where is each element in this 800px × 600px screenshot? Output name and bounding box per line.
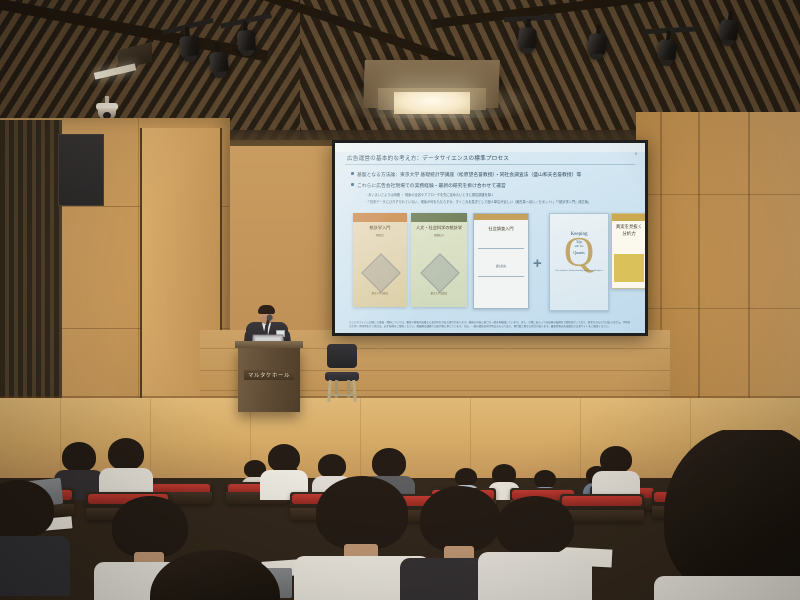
slide-bullet-2: これらに広告会社現場での実務経験・最新の研究を掛け合わせて運営: [351, 182, 637, 189]
venue-sign-label: マルタケホール: [248, 371, 290, 379]
speaker-hair: [258, 305, 275, 314]
book-subtitle: Your Guide to Understanding and Using An…: [550, 270, 608, 272]
book-publisher: 東京大学出版会: [353, 291, 407, 295]
audience-member-closest: [664, 430, 800, 600]
book-title-line1: 真実を見抜く: [614, 224, 644, 230]
book-band: [353, 213, 407, 222]
book-title-line3: with the: [550, 245, 608, 248]
auditorium-photo: 9 広告運営の基本的な考え方：データサイエンスの標準プロセス 基盤となる方法論：…: [0, 0, 800, 600]
projection-screen-frame: 9 広告運営の基本的な考え方：データサイエンスの標準プロセス 基盤となる方法論：…: [332, 140, 648, 336]
slide-title-rule: [345, 164, 635, 165]
audience-member-foreground: [0, 480, 54, 580]
audience-member: [108, 438, 144, 480]
book-band: [411, 213, 467, 222]
book-color-block: [614, 254, 644, 282]
stage-chair[interactable]: [325, 344, 359, 402]
slide-footnote: ※このスライドに記載した書籍・資料については、著者の所属や肩書きに表記ゆれがある…: [349, 321, 631, 329]
book-cover: 人文・社会科学の統計学 基礎統計2 東京大学出版会: [411, 213, 467, 307]
bullet-marker-icon: [351, 172, 354, 175]
slide-subnote-2: ・「旧来データにひきずられていない、現象が何をもたらすか、すぐこれを急ぎとして個…: [365, 199, 637, 204]
slide-page-number: 9: [635, 151, 637, 156]
book-author: 盛山和夫: [474, 264, 528, 268]
audience-member-foreground: [496, 496, 574, 600]
book-publisher: 東京大学出版会: [411, 291, 467, 295]
audience-seating: [0, 430, 800, 600]
audience-member: [268, 444, 300, 482]
book-title-line1: Keeping: [550, 232, 608, 237]
slide-bullet-1-text: 基盤となる方法論：東京大学 基礎統計学講座（松原望名誉教授）・同社会調査法（盛山…: [357, 173, 581, 178]
book-title-line2: Up: [550, 239, 608, 244]
podium: マルタケホール: [238, 346, 300, 412]
wall-mounted-dark-panel: [58, 134, 104, 206]
book-series: 基礎統計2: [411, 233, 467, 237]
slide-bullet-1: 基盤となる方法論：東京大学 基礎統計学講座（松原望名誉教授）・同社会調査法（盛山…: [351, 171, 637, 178]
book-title: 人文・社会科学の統計学: [411, 225, 467, 231]
audience-member: [62, 442, 96, 482]
audience-member-closest: [150, 550, 280, 600]
slide-title: 広告運営の基本的な考え方：データサイエンスの標準プロセス: [347, 154, 615, 162]
book-series: 基礎統計: [353, 233, 407, 237]
book-title: 統計学入門: [353, 225, 407, 231]
slide-bullet-2-text: これらに広告会社現場での実務経験・最新の研究を掛け合わせて運営: [357, 184, 506, 189]
book-ornament-icon: [361, 253, 401, 293]
slide-book-row: 統計学入門 基礎統計 東京大学出版会 人文・社会科学の統計学 基礎統計2 東京大…: [349, 213, 635, 311]
audience-member: [600, 446, 632, 484]
book-cover: Q Keeping Up with the Quants Your Guide …: [549, 213, 609, 311]
bullet-marker-icon: [351, 183, 354, 186]
book-cover: 統計学入門 基礎統計 東京大学出版会: [353, 213, 407, 307]
book-title-line2: 分析力: [614, 231, 644, 237]
projection-screen: 9 広告運営の基本的な考え方：データサイエンスの標準プロセス 基盤となる方法論：…: [335, 143, 645, 333]
book-cover: 真実を見抜く 分析力: [611, 213, 645, 289]
venue-sign: マルタケホール: [244, 370, 294, 380]
book-title-line4: Quants: [550, 250, 608, 255]
plus-operator: +: [533, 255, 542, 272]
slide-subnote-1: ・あいまいさよりは明確 ・ 現象の全容やアプローチを先に定めたいときに周辺調査を…: [365, 192, 637, 197]
slide-header-band: [335, 143, 645, 152]
book-title: 社会調査入門: [474, 226, 528, 232]
book-band: [612, 214, 645, 221]
book-band: [474, 214, 528, 220]
light-panel: [394, 92, 470, 114]
book-ornament-icon: [420, 253, 460, 293]
book-cover: 社会調査入門 盛山和夫: [473, 213, 529, 309]
audience-member-foreground: [316, 476, 408, 600]
